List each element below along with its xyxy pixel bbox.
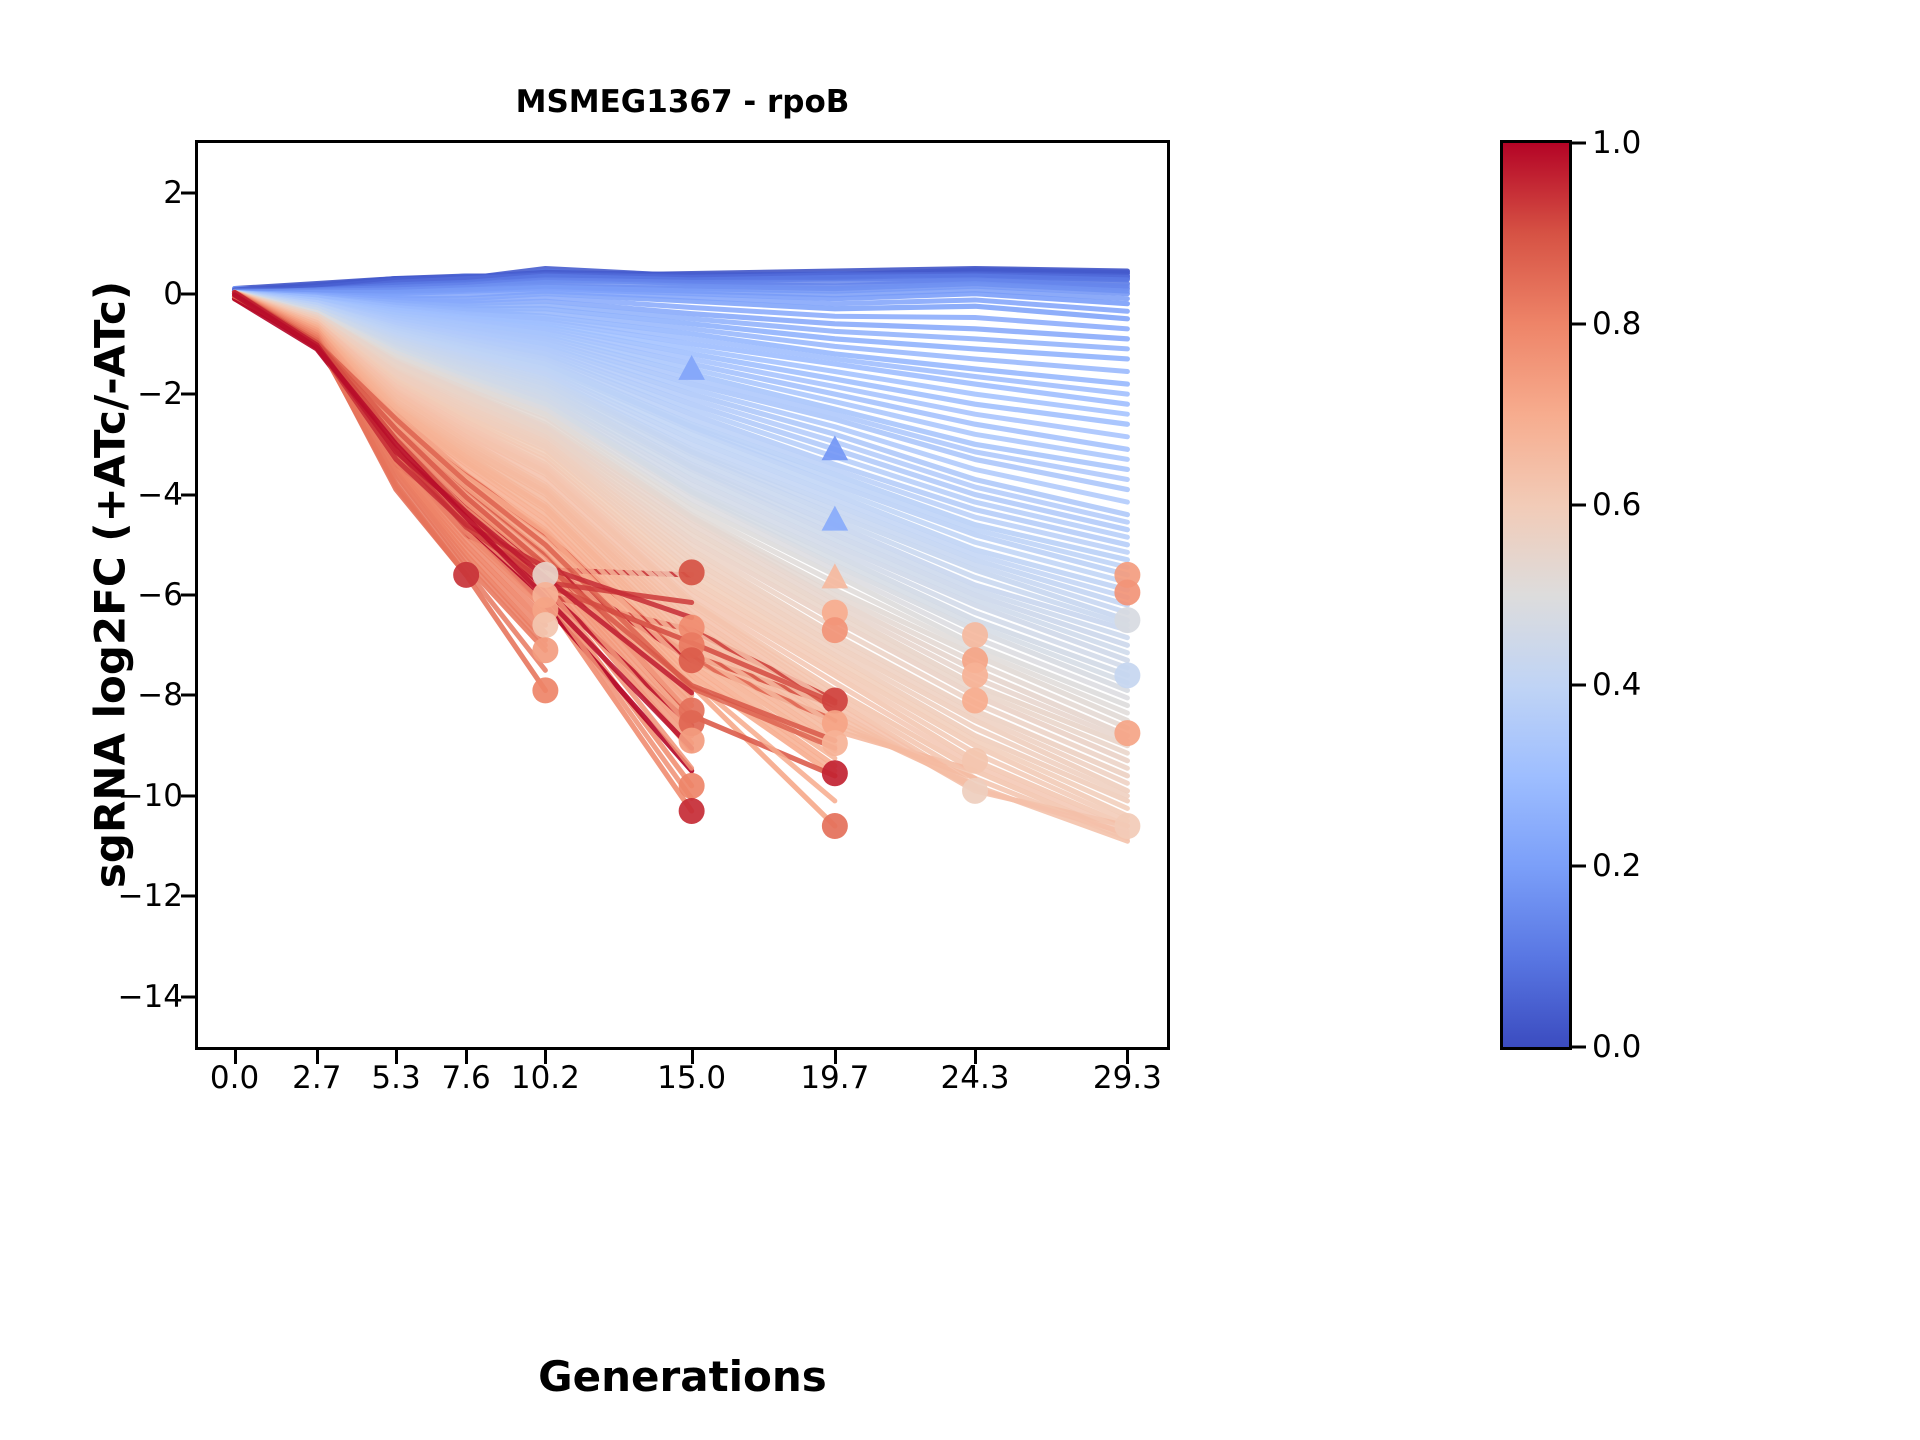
colorbar-tick-mark [1572,503,1586,506]
circle-marker [962,622,988,648]
y-tick-label: −10 [63,778,183,814]
y-tick-mark [181,895,195,898]
circle-marker [822,760,848,786]
y-tick-mark [181,995,195,998]
page-title: MSMEG1367 - rpoB [195,84,1170,120]
chart-figure: MSMEG1367 - rpoB sgRNA log2FC (+ATc/-ATc… [0,0,1920,1440]
circle-marker [822,687,848,713]
circle-marker [679,773,705,799]
x-tick-mark [834,1050,837,1064]
x-tick-label: 24.3 [895,1060,1055,1096]
circle-marker [1114,607,1140,633]
x-tick-label: 10.2 [465,1060,625,1096]
y-tick-label: −12 [63,878,183,914]
y-tick-mark [181,794,195,797]
y-tick-mark [181,594,195,597]
x-tick-mark [1126,1050,1129,1064]
colorbar-tick-mark [1572,1046,1586,1049]
x-tick-label: 29.3 [1047,1060,1207,1096]
circle-marker [822,617,848,643]
plot-area [195,140,1170,1050]
circle-marker [679,559,705,585]
circle-marker [962,778,988,804]
circle-marker [679,798,705,824]
y-tick-label: −14 [63,979,183,1015]
circle-marker [1114,720,1140,746]
x-tick-mark [974,1050,977,1064]
y-tick-mark [181,493,195,496]
y-tick-label: −2 [63,376,183,412]
y-tick-label: −8 [63,677,183,713]
colorbar-tick-label: 0.8 [1592,306,1712,342]
circle-marker [679,728,705,754]
x-tick-mark [691,1050,694,1064]
colorbar-tick-mark [1572,865,1586,868]
circle-marker [1114,579,1140,605]
series-lines [235,269,1128,842]
circle-marker [1114,662,1140,688]
colorbar-gradient [1503,143,1569,1047]
colorbar-tick-label: 1.0 [1592,125,1712,161]
y-tick-label: −4 [63,477,183,513]
x-axis-label: Generations [195,1352,1170,1401]
circle-marker [532,677,558,703]
circle-marker [962,662,988,688]
circle-marker [532,637,558,663]
trajectory-lines-svg [198,143,1167,1047]
y-tick-mark [181,292,195,295]
circle-marker [822,813,848,839]
colorbar-tick-mark [1572,322,1586,325]
x-tick-label: 19.7 [755,1060,915,1096]
circle-marker [962,748,988,774]
colorbar-tick-mark [1572,142,1586,145]
y-tick-label: 2 [63,175,183,211]
circle-marker [679,647,705,673]
y-tick-mark [181,393,195,396]
y-tick-mark [181,694,195,697]
circle-marker [962,687,988,713]
circle-marker [1114,813,1140,839]
y-tick-label: 0 [63,276,183,312]
colorbar [1500,140,1572,1050]
y-tick-mark [181,192,195,195]
colorbar-tick-label: 0.6 [1592,487,1712,523]
y-tick-label: −6 [63,577,183,613]
colorbar-tick-mark [1572,684,1586,687]
colorbar-tick-label: 0.2 [1592,848,1712,884]
circle-marker [532,612,558,638]
circle-marker [822,730,848,756]
colorbar-tick-label: 0.4 [1592,667,1712,703]
circle-marker [453,562,479,588]
colorbar-tick-label: 0.0 [1592,1029,1712,1065]
x-tick-label: 15.0 [612,1060,772,1096]
x-tick-mark [544,1050,547,1064]
